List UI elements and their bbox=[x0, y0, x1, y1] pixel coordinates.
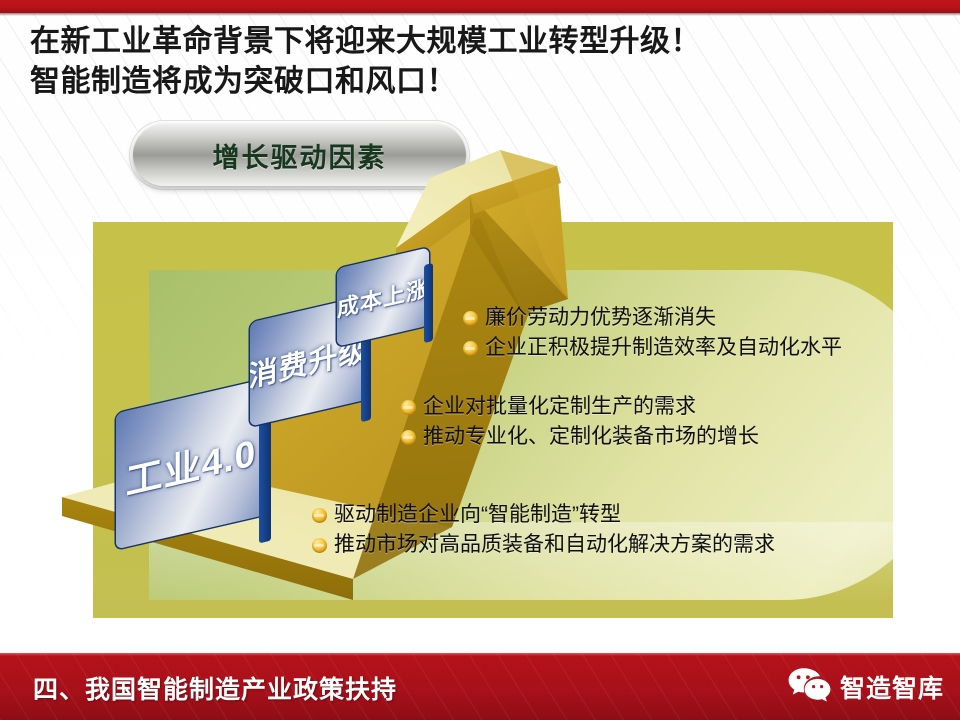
bullet-dot-icon bbox=[312, 508, 327, 523]
bullet-group-2: 企业对批量化定制生产的需求 推动专业化、定制化装备市场的增长 bbox=[401, 392, 759, 452]
footer-section-title: 四、我国智能制造产业政策扶持 bbox=[33, 670, 397, 706]
bullet-text: 廉价劳动力优势逐渐消失 bbox=[485, 303, 716, 333]
bullet-item: 推动专业化、定制化装备市场的增长 bbox=[401, 422, 759, 452]
bullet-dot-icon bbox=[312, 538, 327, 553]
page-title: 在新工业革命背景下将迎来大规模工业转型升级！ 智能制造将成为突破口和风口！ bbox=[30, 22, 920, 101]
bullet-group-3: 驱动制造企业向“智能制造”转型 推动市场对高品质装备和自动化解决方案的需求 bbox=[312, 500, 775, 560]
wechat-icon bbox=[786, 666, 832, 707]
growth-drivers-badge: 增长驱动因素 bbox=[133, 124, 466, 186]
step-block-3-edge bbox=[424, 263, 433, 343]
growth-drivers-badge-label: 增长驱动因素 bbox=[213, 136, 387, 175]
bullet-item: 企业正积极提升制造效率及自动化水平 bbox=[463, 333, 842, 363]
brand-block: 智造智库 bbox=[786, 666, 944, 707]
footer-bar: 四、我国智能制造产业政策扶持 智造智库 bbox=[0, 653, 960, 720]
bullet-item: 推动市场对高品质装备和自动化解决方案的需求 bbox=[312, 530, 775, 560]
bullet-item: 驱动制造企业向“智能制造”转型 bbox=[312, 500, 775, 530]
bullet-dot-icon bbox=[401, 430, 416, 445]
slide-canvas: 在新工业革命背景下将迎来大规模工业转型升级！ 智能制造将成为突破口和风口！ 增长… bbox=[0, 0, 960, 720]
bullet-dot-icon bbox=[401, 400, 416, 415]
brand-name: 智造智库 bbox=[840, 669, 944, 705]
top-accent-bar-shadow bbox=[0, 13, 960, 16]
bullet-text: 推动专业化、定制化装备市场的增长 bbox=[423, 422, 759, 452]
bullet-dot-icon bbox=[463, 341, 478, 356]
step-block-1-edge bbox=[259, 405, 271, 544]
bullet-text: 企业正积极提升制造效率及自动化水平 bbox=[485, 333, 842, 363]
bullet-item: 企业对批量化定制生产的需求 bbox=[401, 392, 759, 422]
bullet-dot-icon bbox=[463, 311, 478, 326]
bullet-text: 企业对批量化定制生产的需求 bbox=[423, 392, 696, 422]
top-accent-bar bbox=[0, 0, 960, 13]
footer-top-highlight bbox=[0, 653, 960, 656]
bullet-text: 驱动制造企业向“智能制造”转型 bbox=[334, 500, 621, 530]
bullet-group-1: 廉价劳动力优势逐渐消失 企业正积极提升制造效率及自动化水平 bbox=[463, 303, 842, 363]
bullet-item: 廉价劳动力优势逐渐消失 bbox=[463, 303, 842, 333]
bullet-text: 推动市场对高品质装备和自动化解决方案的需求 bbox=[334, 530, 775, 560]
